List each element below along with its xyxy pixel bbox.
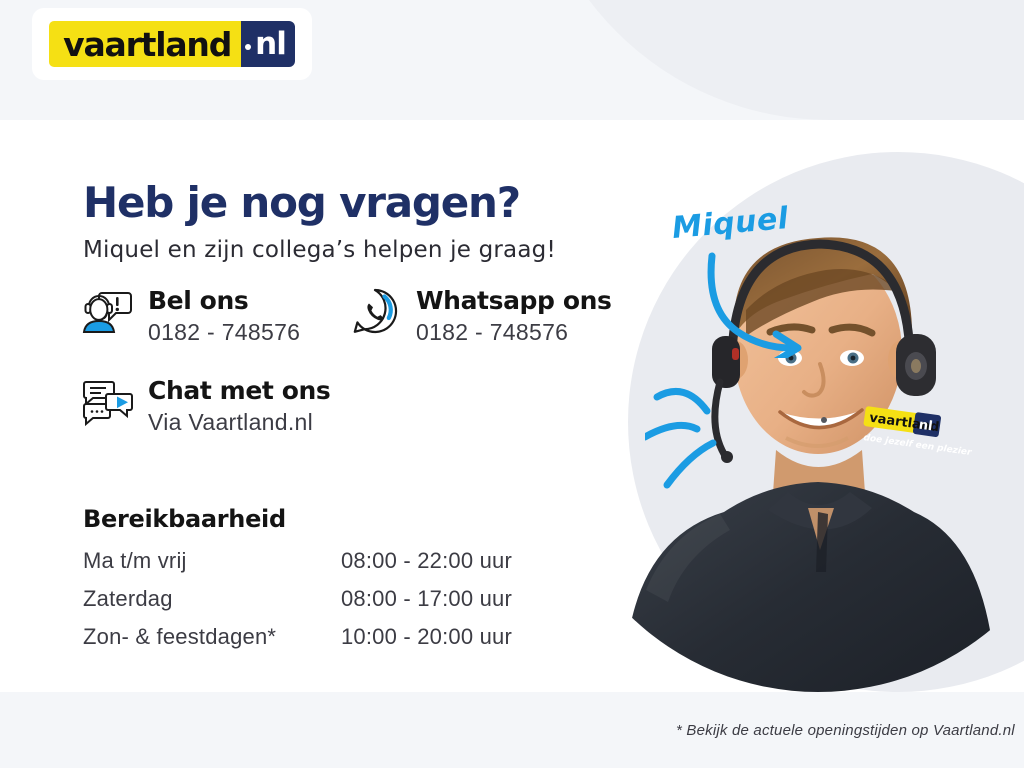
contact-item-whatsapp[interactable]: Whatsapp ons 0182 - 748576 <box>348 284 612 346</box>
logo-tld: nl <box>255 29 286 60</box>
logo-wordmark: vaartland <box>63 28 231 61</box>
contact-text-chat: Chat met ons Via Vaartland.nl <box>148 374 330 436</box>
svg-text:doe jezelf een plezier: doe jezelf een plezier <box>863 433 973 458</box>
footnote-text: * Bekijk de actuele openingstijden op Va… <box>676 722 1015 739</box>
contact-item-chat[interactable]: Chat met ons Via Vaartland.nl <box>80 374 330 436</box>
hours-day: Zaterdag <box>83 586 341 624</box>
contact-text-call: Bel ons 0182 - 748576 <box>148 284 300 346</box>
hours-time: 08:00 - 17:00 uur <box>341 586 512 624</box>
headset-person-icon <box>80 284 134 338</box>
contact-value-chat: Via Vaartland.nl <box>148 409 330 436</box>
table-row: Ma t/m vrij 08:00 - 22:00 uur <box>83 548 512 586</box>
table-row: Zaterdag 08:00 - 17:00 uur <box>83 586 512 624</box>
contact-text-whatsapp: Whatsapp ons 0182 - 748576 <box>416 284 612 346</box>
motion-dashes-icon <box>645 365 755 490</box>
chat-bubbles-icon <box>80 374 134 428</box>
logo-yellow-box: vaartland <box>49 21 243 67</box>
hours-day: Ma t/m vrij <box>83 548 341 586</box>
contact-value-whatsapp: 0182 - 748576 <box>416 319 612 346</box>
contact-value-call: 0182 - 748576 <box>148 319 300 346</box>
contact-title-call: Bel ons <box>148 287 300 316</box>
hours-heading: Bereikbaarheid <box>83 505 286 533</box>
background-blob-top <box>529 0 1024 120</box>
contact-title-whatsapp: Whatsapp ons <box>416 287 612 316</box>
table-row: Zon- & feestdagen* 10:00 - 20:00 uur <box>83 624 512 662</box>
hours-day: Zon- & feestdagen* <box>83 624 341 662</box>
hours-table: Ma t/m vrij 08:00 - 22:00 uur Zaterdag 0… <box>83 548 512 662</box>
logo-lockup: vaartland nl <box>49 21 295 67</box>
svg-text:nl: nl <box>918 418 934 435</box>
promo-banner: vaartland nl doe jezelf een plezier Miqu… <box>0 0 1024 768</box>
page-subtitle: Miquel en zijn collega’s helpen je graag… <box>83 237 556 263</box>
contact-item-call[interactable]: Bel ons 0182 - 748576 <box>80 284 300 346</box>
curved-arrow-icon <box>700 248 810 358</box>
hours-time: 10:00 - 20:00 uur <box>341 624 512 662</box>
site-logo[interactable]: vaartland nl <box>32 8 312 80</box>
hours-time: 08:00 - 22:00 uur <box>341 548 512 586</box>
logo-navy-box: nl <box>241 21 295 67</box>
logo-dot-icon <box>245 44 251 50</box>
whatsapp-phone-icon <box>348 284 402 338</box>
contact-title-chat: Chat met ons <box>148 377 330 406</box>
page-title: Heb je nog vragen? <box>83 180 520 226</box>
